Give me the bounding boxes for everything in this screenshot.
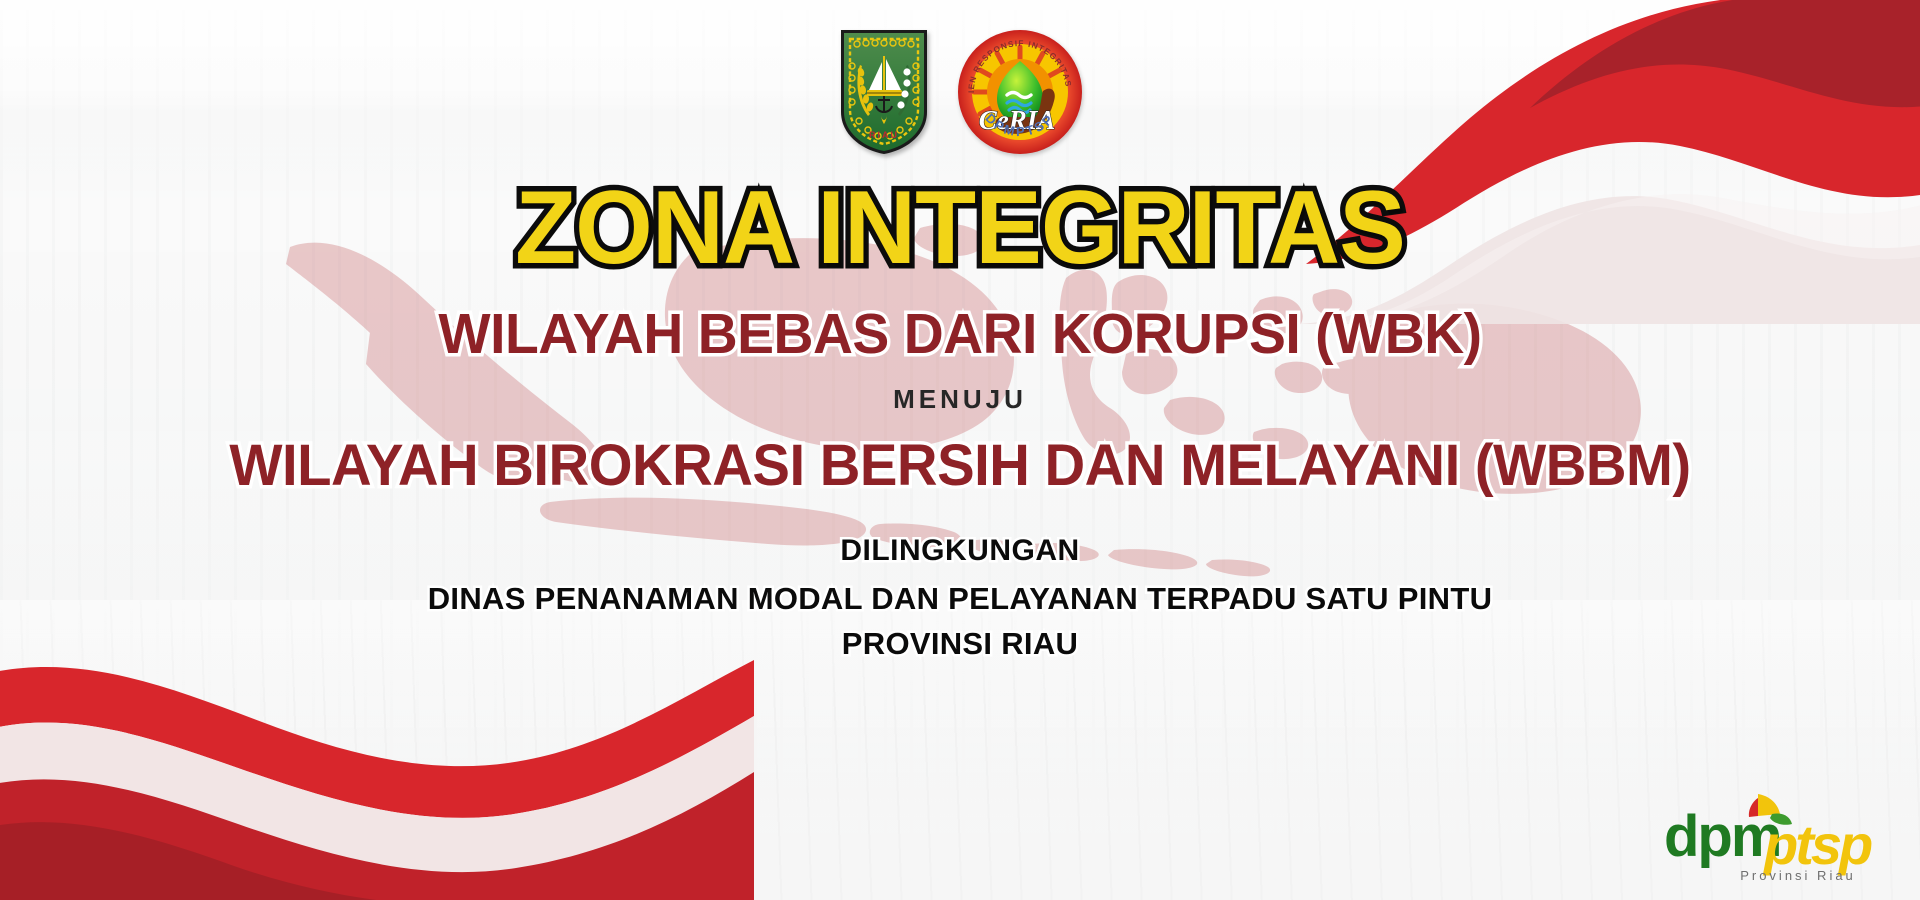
subtitle-wbk: WILAYAH BEBAS DARI KORUPSI (WBK) — [29, 306, 1891, 363]
organization-region: PROVINSI RIAU — [0, 628, 1920, 659]
brand-text-green: dpm — [1664, 804, 1780, 869]
connector-label: MENUJU — [0, 386, 1920, 412]
subtitle-wbbm: WILAYAH BIROKRASI BERSIH DAN MELAYANI (W… — [29, 437, 1891, 495]
scope-label: DILINGKUNGAN — [0, 536, 1920, 566]
zona-integritas-banner: RIAU — [0, 0, 1920, 900]
brand-tagline: Provinsi Riau — [1740, 868, 1856, 883]
page-title: ZONA INTEGRITAS — [38, 176, 1881, 280]
riau-shield-logo: RIAU — [837, 26, 931, 158]
dpmptsp-brand-logo: dpm ptsp Provinsi Riau — [1646, 784, 1896, 888]
organization-name: DINAS PENANAMAN MODAL DAN PELAYANAN TERP… — [0, 583, 1920, 614]
logo-row: RIAU — [837, 26, 1083, 158]
flag-ribbon-bottom-left — [0, 576, 994, 900]
brand-text-yellow: ptsp — [1762, 813, 1872, 876]
ceria-dpmptsp-logo: CeRIA CEPAT EFISIEN RESPONSIF INTEGRITAS… — [957, 29, 1083, 155]
svg-text:RIAU: RIAU — [869, 130, 899, 140]
